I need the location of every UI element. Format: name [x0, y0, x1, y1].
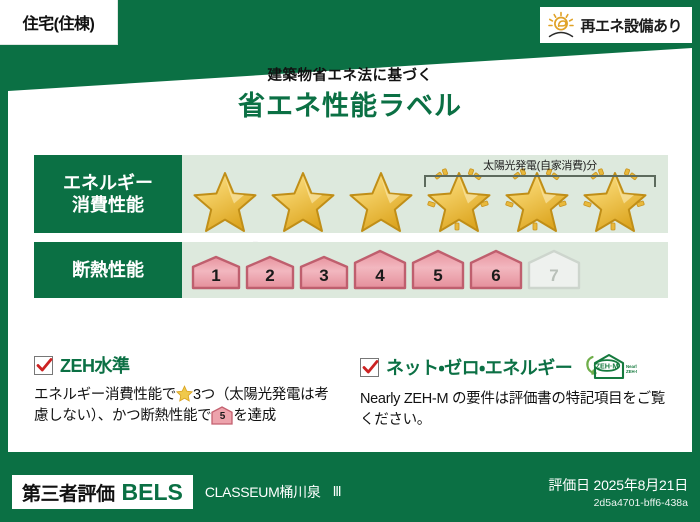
claim-nze-header: ネット・ゼロ・エネルギー ZEH·M Nearly ZEH-M	[360, 352, 668, 382]
evaluation-date: 評価日 2025年8月21日	[548, 475, 688, 495]
grade-badge-7-unachieved: 7	[526, 249, 582, 291]
energy-label-line2: 消費性能	[72, 194, 144, 217]
insulation-performance-row: 断熱性能 1	[34, 242, 668, 298]
claim-zeh-body: エネルギー消費性能で 3つ（太陽光発電は考慮しない）、かつ断熱性能で 5を達成	[34, 385, 342, 427]
building-sequence: Ⅲ	[333, 484, 342, 500]
energy-star-meter: 太陽光発電(自家消費)分	[182, 155, 668, 233]
grade-badge-value: 2	[244, 266, 296, 286]
ratings-area: エネルギー 消費性能 太陽光発電(自家消費)分	[34, 155, 668, 307]
energy-performance-label: 住宅(住棟) 再エネ設備あり 建築物省エネ法に基づく 省エ	[0, 0, 700, 522]
claims-area: ZEH水準 エネルギー消費性能で 3つ（太陽光発電は考慮しない）、かつ断熱性能で…	[34, 352, 668, 431]
grade-badge-value: 5	[410, 266, 466, 286]
grade-badge-5-achieved: 5	[410, 249, 466, 291]
claim-zeh-body-pre: エネルギー消費性能で	[34, 387, 176, 403]
grade-badge-value: 4	[352, 266, 408, 286]
grade-badge-6-achieved: 6	[468, 249, 524, 291]
grade-badge-2-achieved: 2	[244, 255, 296, 291]
evaluation-id: 2d5a4701-bff6-438a	[548, 497, 688, 509]
footer-bar: 第三者評価 BELS CLASSEUM桶川泉 Ⅲ 評価日 2025年8月21日 …	[0, 462, 700, 522]
building-type-badge: 住宅(住棟)	[0, 0, 118, 45]
grade-badge-group: 1 2	[190, 249, 582, 291]
inline-grade-badge: 5	[211, 406, 233, 425]
grade-badge-4-achieved: 4	[352, 249, 408, 291]
page-title: 省エネ性能ラベル	[0, 84, 700, 123]
claim-zeh-body-post: を達成	[233, 408, 276, 424]
claim-zeh-title: ZEH水準	[60, 352, 130, 378]
claim-zeh-standard: ZEH水準 エネルギー消費性能で 3つ（太陽光発電は考慮しない）、かつ断熱性能で…	[34, 352, 342, 431]
grade-badge-3-achieved: 3	[298, 255, 350, 291]
grade-badge-value: 7	[526, 266, 582, 286]
star-3	[342, 163, 420, 233]
star-1	[186, 163, 264, 233]
building-type-label: 住宅(住棟)	[23, 10, 95, 34]
solar-bracket-label: 太陽光発電(自家消費)分	[424, 157, 656, 173]
grade-badge-value: 1	[190, 266, 242, 286]
title-subtitle: 建築物省エネ法に基づく	[0, 64, 700, 85]
bels-certification-badge: 第三者評価 BELS	[12, 475, 193, 509]
energy-performance-label: エネルギー 消費性能	[34, 155, 182, 233]
insulation-label-line1: 断熱性能	[72, 259, 144, 282]
star-rating-group	[186, 163, 654, 233]
sun-icon	[546, 11, 576, 39]
inline-star-icon	[176, 385, 193, 402]
inline-grade-value: 5	[211, 410, 233, 425]
zeh-m-logo-icon: ZEH·M Nearly ZEH-M	[583, 352, 637, 382]
checkbox-net-zero-energy[interactable]	[360, 358, 379, 377]
svg-text:ZEH·M: ZEH·M	[596, 361, 619, 370]
claim-net-zero-energy: ネット・ゼロ・エネルギー ZEH·M Nearly ZEH-M Nearly Z…	[360, 352, 668, 431]
star-4-solar	[420, 163, 498, 233]
grade-badge-1-achieved: 1	[190, 255, 242, 291]
star-2	[264, 163, 342, 233]
grade-badge-value: 3	[298, 266, 350, 286]
checkbox-zeh-standard[interactable]	[34, 356, 53, 375]
star-5-solar	[498, 163, 576, 233]
energy-performance-row: エネルギー 消費性能 太陽光発電(自家消費)分	[34, 155, 668, 233]
renewable-equipment-label: 再エネ設備あり	[580, 15, 682, 36]
star-6-solar	[576, 163, 654, 233]
bels-en-label: BELS	[122, 479, 183, 506]
building-name: CLASSEUM桶川泉	[205, 482, 321, 502]
claim-nze-title: ネット・ゼロ・エネルギー	[386, 354, 572, 380]
claim-nze-body: Nearly ZEH-M の要件は評価書の特記項目をご覧ください。	[360, 389, 668, 431]
energy-label-line1: エネルギー	[63, 172, 153, 195]
solar-bracket	[424, 175, 656, 187]
svg-text:ZEH-M: ZEH-M	[626, 369, 637, 374]
bels-jp-label: 第三者評価	[22, 479, 115, 506]
renewable-equipment-badge: 再エネ設備あり	[540, 7, 692, 43]
footer-meta: 評価日 2025年8月21日 2d5a4701-bff6-438a	[548, 475, 688, 509]
claim-zeh-header: ZEH水準	[34, 352, 342, 378]
grade-badge-value: 6	[468, 266, 524, 286]
insulation-performance-label: 断熱性能	[34, 242, 182, 298]
insulation-grade-meter: 1 2	[182, 242, 668, 298]
